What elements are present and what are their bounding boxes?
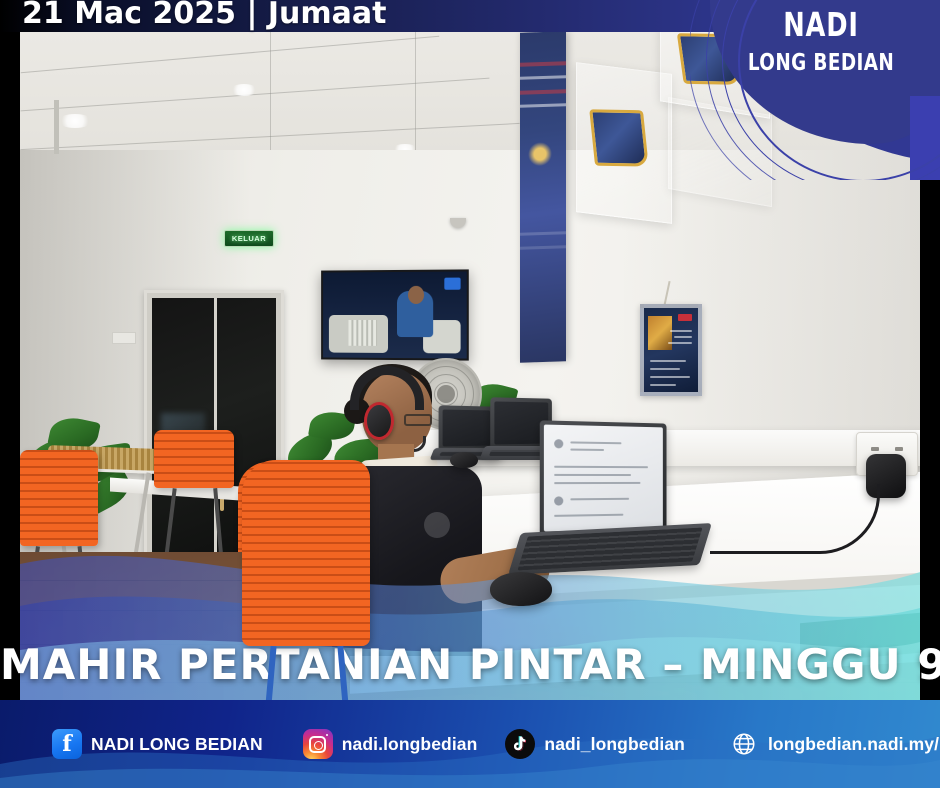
shirt-logo: [424, 512, 450, 538]
tv-screen-content: [323, 271, 467, 358]
social-link-instagram[interactable]: nadi.longbedian: [303, 729, 478, 759]
facebook-handle: NADI LONG BEDIAN: [91, 734, 263, 755]
tiktok-handle: nadi_longbedian: [544, 734, 685, 755]
nadi-logo-badge: NADI LONG BEDIAN: [690, 0, 940, 180]
social-links-row: f NADI LONG BEDIAN nadi.longbedian: [0, 700, 940, 788]
exit-sign: KELUAR: [224, 230, 274, 247]
headphone-earcup: [364, 402, 394, 440]
social-link-website[interactable]: longbedian.nadi.my/: [729, 729, 939, 759]
computer-mouse: [490, 572, 552, 606]
tv-channel-logo: [444, 278, 460, 290]
poster-canvas: KELUAR: [0, 0, 940, 788]
social-footer: f NADI LONG BEDIAN nadi.longbedian: [0, 700, 940, 788]
globe-glyph: [731, 731, 757, 757]
roll-up-banner: [520, 32, 566, 363]
badge-title: NADI: [739, 5, 903, 44]
tiktok-glyph: [510, 734, 530, 754]
fan-pole: [54, 100, 59, 154]
acrylic-emblem: [589, 109, 649, 166]
event-date: 21 Mac 2025 | Jumaat: [22, 0, 386, 31]
social-link-facebook[interactable]: f NADI LONG BEDIAN: [52, 729, 263, 759]
computer-mouse: [450, 452, 478, 468]
eyeglasses: [404, 414, 432, 426]
wall-poster: [640, 304, 702, 396]
ceiling-light: [230, 84, 258, 96]
tiktok-icon: [505, 729, 535, 759]
poster-accent: [678, 314, 692, 321]
badge-subtitle: LONG BEDIAN: [737, 50, 905, 76]
instagram-handle: nadi.longbedian: [342, 734, 478, 755]
tv-cushion: [348, 320, 376, 346]
facebook-icon: f: [52, 729, 82, 759]
wall-television: [321, 269, 469, 360]
globe-icon: [729, 729, 759, 759]
ceiling-light: [58, 114, 92, 128]
event-title: MAHIR PERTANIAN PINTAR – MINGGU 9: [0, 640, 940, 689]
website-url: longbedian.nadi.my/: [768, 734, 939, 755]
laptop-screen: [544, 425, 663, 532]
instagram-icon: [303, 729, 333, 759]
poster-image: [648, 316, 672, 350]
wall-switch-plate: [112, 332, 136, 344]
social-link-tiktok[interactable]: nadi_longbedian: [505, 729, 685, 759]
exit-sign-label: KELUAR: [232, 234, 266, 243]
